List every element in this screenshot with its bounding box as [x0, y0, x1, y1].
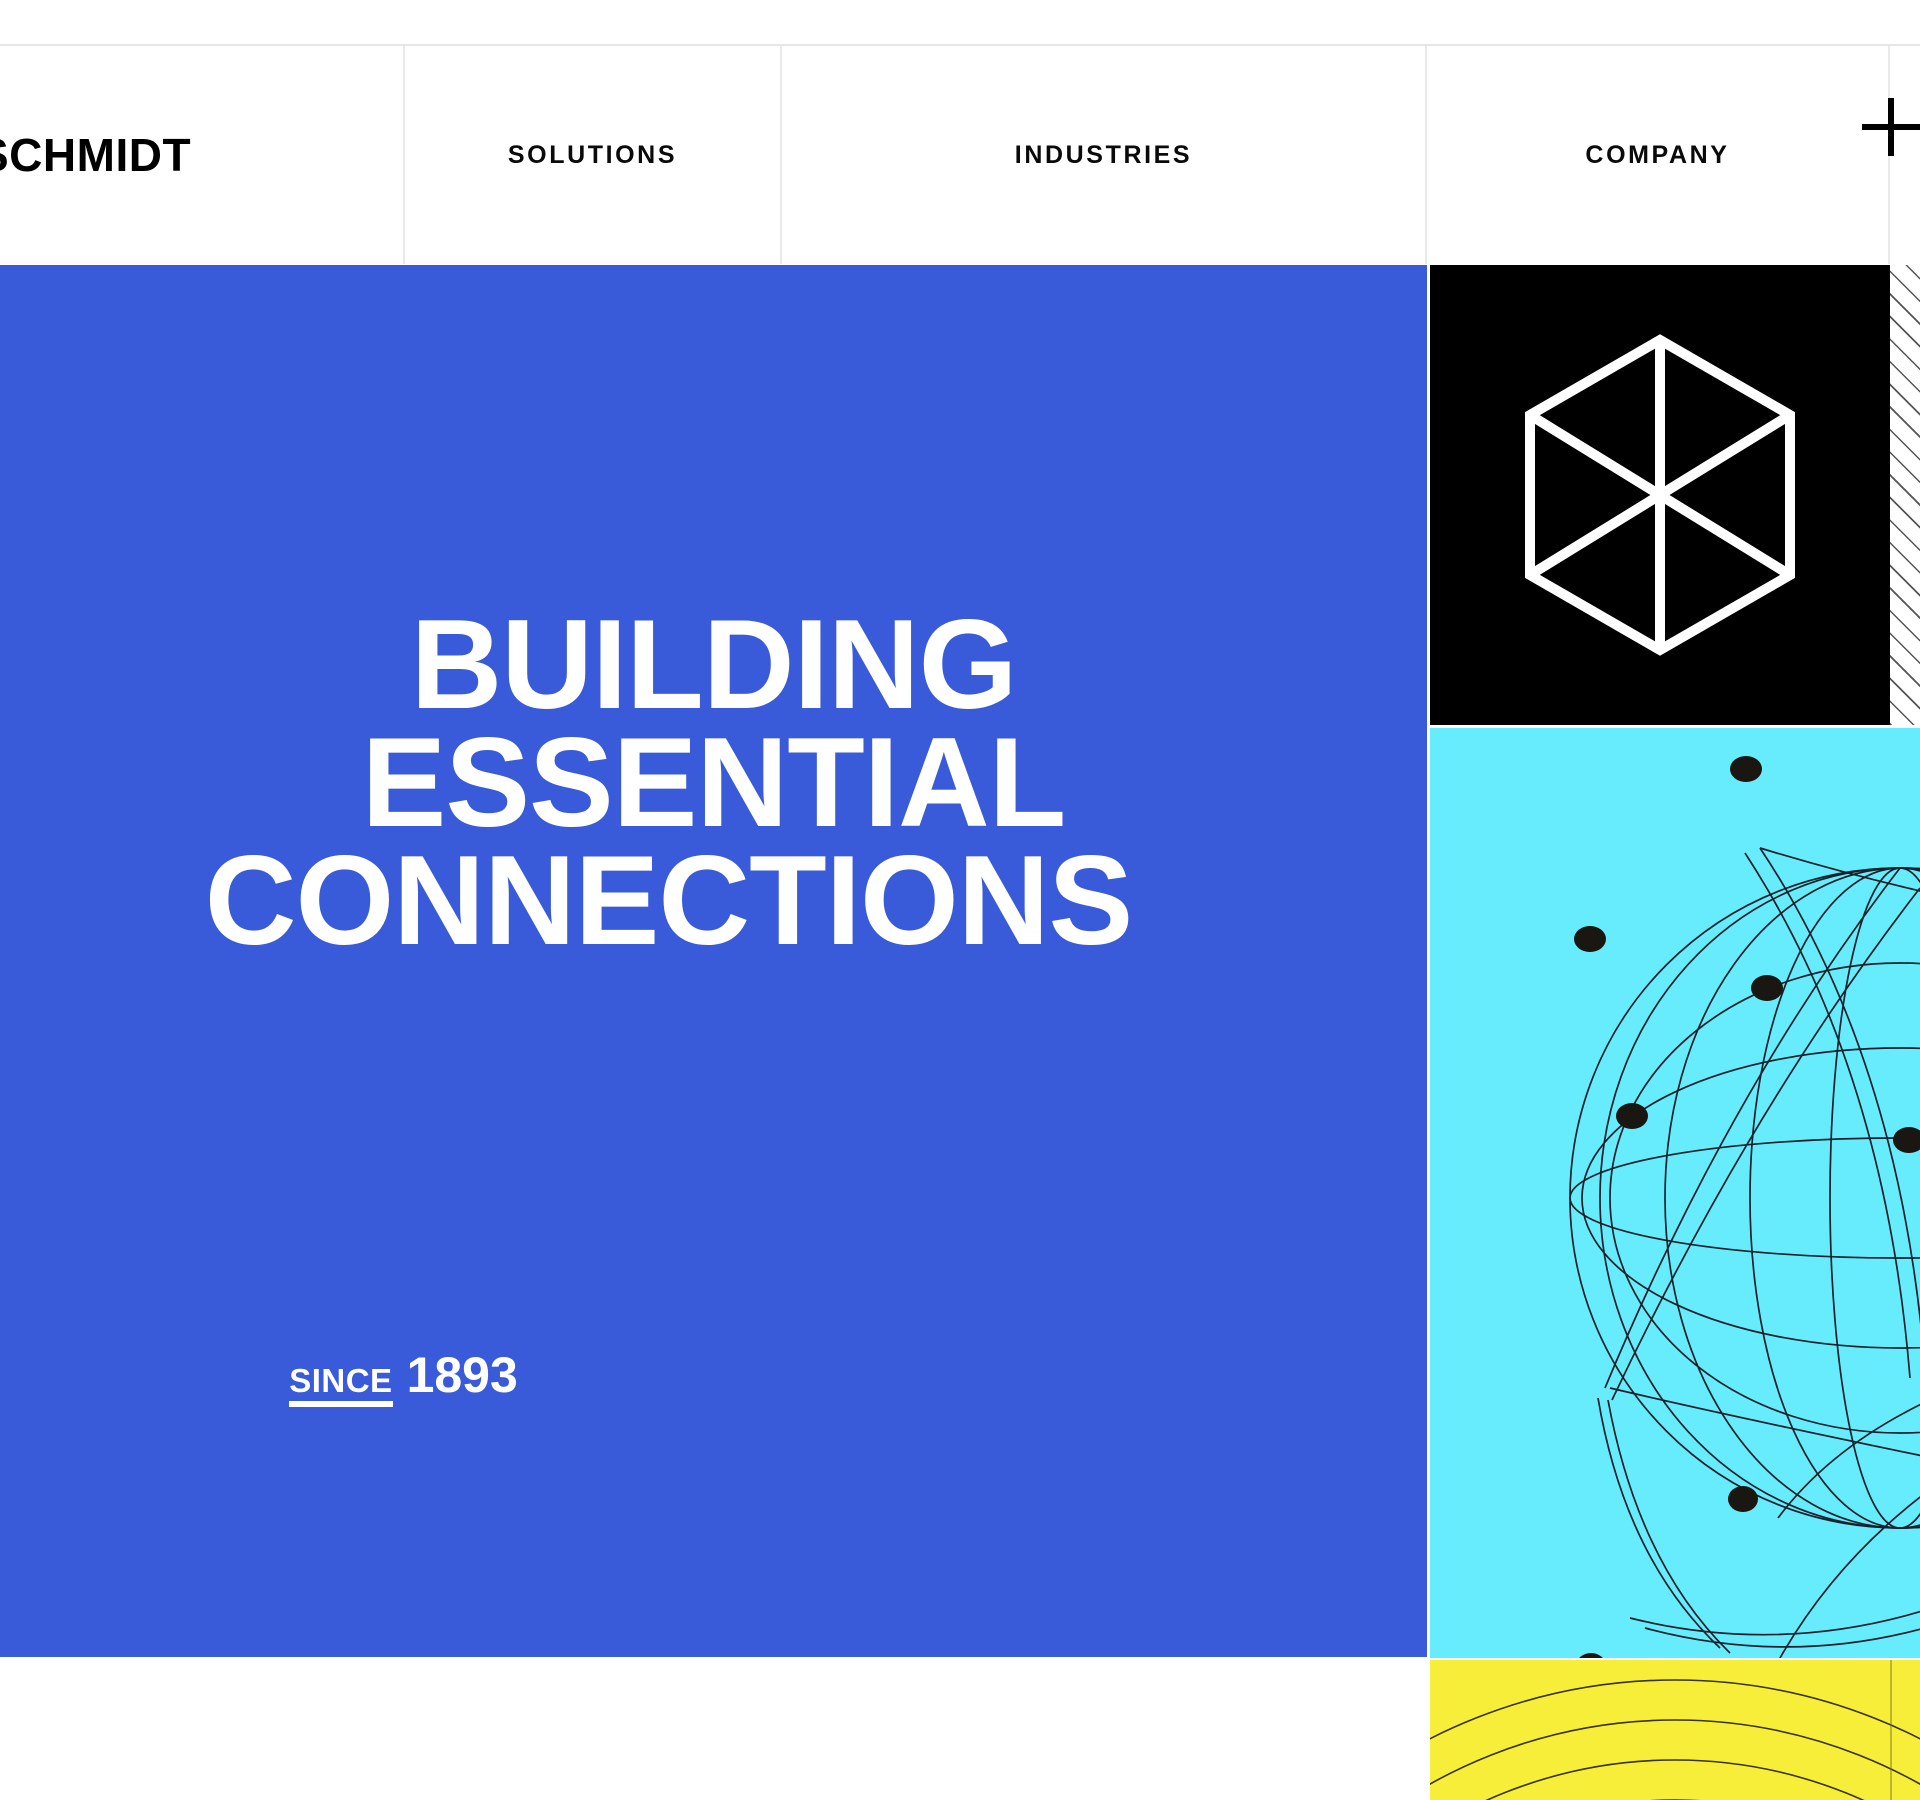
- concentric-arcs-tile: [1430, 1660, 1920, 1800]
- network-globe-icon: [1430, 728, 1920, 1658]
- globe-node-4: [1616, 1103, 1648, 1129]
- site-header: SCHMIDT SOLUTIONS INDUSTRIES COMPANY: [0, 44, 1920, 264]
- diagonal-hatch-strip: [1890, 265, 1920, 725]
- globe-node: [1728, 1486, 1758, 1512]
- concentric-arcs-pattern: [1430, 1660, 1920, 1800]
- hero-headline-line-2: ESSENTIAL: [0, 723, 1427, 841]
- hero-headline: BUILDING ESSENTIAL CONNECTIONS: [0, 605, 1427, 959]
- nav-item-company[interactable]: COMPANY: [1427, 46, 1890, 264]
- since-year: 1893: [407, 1350, 518, 1400]
- nav-item-company-label: COMPANY: [1585, 141, 1729, 170]
- globe-node-2: [1574, 926, 1606, 952]
- globe-node-5: [1893, 1127, 1920, 1153]
- hero-panel: BUILDING ESSENTIAL CONNECTIONS SINCE 189…: [0, 265, 1427, 1657]
- yellow-tile-divider: [1890, 1660, 1892, 1800]
- hero-headline-line-3: CONNECTIONS: [0, 841, 1427, 959]
- globe-node-group: [1576, 1486, 1920, 1658]
- nav-item-industries-label: INDUSTRIES: [1015, 141, 1192, 170]
- globe-node: [1576, 1653, 1606, 1658]
- logo-wordmark: SCHMIDT: [0, 128, 191, 182]
- network-globe-tile: [1430, 728, 1920, 1658]
- plus-icon-vertical-bar: [1888, 98, 1894, 156]
- globe-node-3: [1751, 975, 1783, 1001]
- logo-mark-tile: [1430, 265, 1890, 725]
- globe-node-1: [1730, 756, 1762, 782]
- nav-item-solutions[interactable]: SOLUTIONS: [405, 46, 782, 264]
- nav-item-industries[interactable]: INDUSTRIES: [782, 46, 1427, 264]
- hexagon-cube-logo-icon: [1510, 330, 1810, 660]
- nav-item-solutions-label: SOLUTIONS: [508, 141, 677, 170]
- logo-link[interactable]: SCHMIDT: [0, 46, 405, 264]
- since-label: SINCE: [289, 1364, 392, 1407]
- plus-icon[interactable]: [1862, 98, 1920, 156]
- since-badge: SINCE 1893: [0, 1350, 1117, 1407]
- hero-headline-line-1: BUILDING: [0, 605, 1427, 723]
- page-root: SCHMIDT SOLUTIONS INDUSTRIES COMPANY BUI…: [0, 0, 1920, 1800]
